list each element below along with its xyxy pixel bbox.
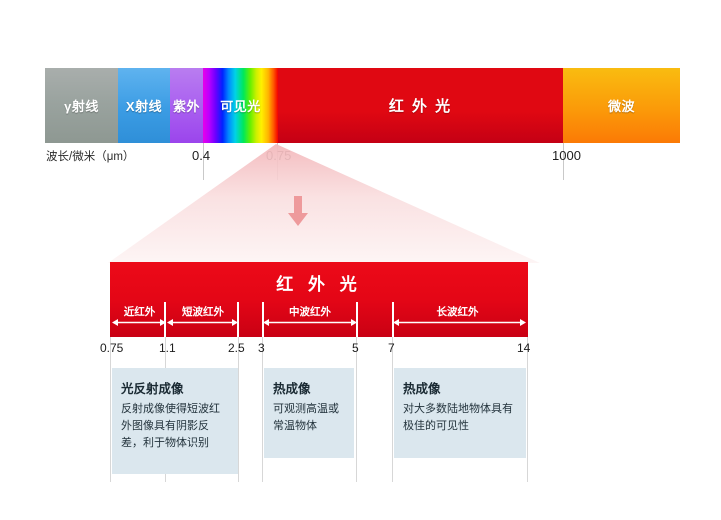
band-arrow-swir — [167, 318, 238, 327]
band-label-near-infrared: 近红外 — [114, 304, 165, 319]
band-label-lwir: 长波红外 — [395, 304, 520, 319]
band-divider-7 — [392, 302, 394, 337]
detail-tick-label-7: 7 — [388, 341, 395, 355]
band-divider-11 — [164, 302, 166, 337]
info-box-thermal-imaging-mwir-body: 可观测高温或常温物体 — [273, 401, 345, 435]
band-label-swir: 短波红外 — [168, 304, 238, 319]
band-arrow-lwir — [393, 318, 526, 327]
detail-tick-label-075: 0.75 — [100, 341, 123, 355]
spectrum-segment-ultraviolet-label: 紫外 — [173, 96, 200, 115]
spectrum-segment-xray: X射线 — [118, 68, 170, 143]
detail-tick-label-14: 14 — [517, 341, 530, 355]
band-divider-5 — [356, 302, 358, 337]
info-box-thermal-imaging-lwir-title: 热成像 — [403, 378, 517, 397]
band-arrow-mwir — [263, 318, 357, 327]
spectrum-segment-visible: 可见光 — [203, 68, 278, 143]
spectrum-segment-ultraviolet: 紫外 — [170, 68, 203, 143]
detail-tick-line-25 — [238, 337, 239, 482]
detail-tick-line-14 — [527, 337, 528, 482]
spectrum-segment-gamma: γ射线 — [45, 68, 118, 143]
detail-tick-line-5 — [356, 337, 357, 482]
infrared-spectrum-infographic: γ射线 X射线 紫外 可见光 红 外 光 微波 波长/微米（μm） 0.4 0.… — [0, 0, 721, 520]
electromagnetic-spectrum-bar: γ射线 X射线 紫外 可见光 红 外 光 微波 — [45, 68, 680, 143]
info-box-reflective-imaging-body: 反射成像使得短波红外图像具有阴影反差，利于物体识别 — [121, 401, 229, 452]
spectrum-segment-microwave-label: 微波 — [608, 96, 635, 115]
band-arrow-near-infrared — [112, 318, 166, 327]
spectrum-segment-gamma-label: γ射线 — [64, 96, 99, 115]
spectrum-segment-microwave: 微波 — [563, 68, 680, 143]
spectrum-tick-label-1000: 1000 — [552, 148, 581, 163]
zoom-funnel-shape — [108, 144, 540, 263]
info-box-thermal-imaging-mwir: 热成像 可观测高温或常温物体 — [264, 368, 354, 458]
spectrum-segment-infrared-label: 红 外 光 — [389, 95, 452, 116]
detail-tick-label-3: 3 — [258, 341, 265, 355]
infrared-detail-title: 红 外 光 — [110, 270, 528, 295]
info-box-thermal-imaging-lwir: 热成像 对大多数陆地物体具有极佳的可见性 — [394, 368, 526, 458]
detail-tick-label-11: 1.1 — [159, 341, 176, 355]
down-arrow-icon — [288, 196, 308, 226]
spectrum-segment-visible-label: 可见光 — [220, 96, 261, 115]
spectrum-segment-xray-label: X射线 — [126, 96, 162, 115]
detail-tick-line-075 — [110, 337, 111, 482]
band-label-mwir: 中波红外 — [265, 304, 355, 319]
info-box-thermal-imaging-lwir-body: 对大多数陆地物体具有极佳的可见性 — [403, 401, 517, 435]
band-divider-3 — [262, 302, 264, 337]
detail-tick-line-7 — [392, 337, 393, 482]
spectrum-segment-infrared: 红 外 光 — [278, 68, 563, 143]
band-divider-25 — [237, 302, 239, 337]
detail-tick-label-5: 5 — [352, 341, 359, 355]
infrared-detail-bar: 红 外 光 近红外 短波红外 中波红外 长波红外 — [110, 262, 528, 337]
detail-tick-label-25: 2.5 — [228, 341, 245, 355]
info-box-thermal-imaging-mwir-title: 热成像 — [273, 378, 345, 397]
info-box-reflective-imaging: 光反射成像 反射成像使得短波红外图像具有阴影反差，利于物体识别 — [112, 368, 238, 474]
info-box-reflective-imaging-title: 光反射成像 — [121, 378, 229, 397]
detail-tick-line-3 — [262, 337, 263, 482]
